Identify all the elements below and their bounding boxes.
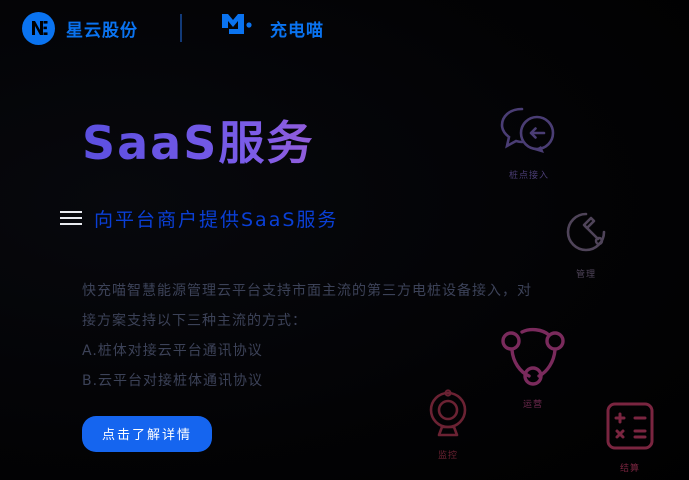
page-header: 星云股份 充电喵 <box>0 0 689 56</box>
brand-primary-name: 星云股份 <box>66 16 138 41</box>
brand-secondary[interactable]: 充电喵 <box>220 12 324 45</box>
hamburger-lines-icon <box>60 211 82 225</box>
feature-label: 结算 <box>620 461 640 474</box>
feature-label: 管理 <box>576 267 596 280</box>
feature-label: 桩点接入 <box>509 168 549 181</box>
learn-more-button[interactable]: 点击了解详情 <box>82 416 212 452</box>
body-line: 快充喵智慧能源管理云平台支持市面主流的第三方电桩设备接入，对 <box>82 276 577 306</box>
feature-operation[interactable]: 运营 <box>497 322 569 410</box>
hero-subline: 向平台商户提供SaaS服务 <box>60 205 602 232</box>
feature-label: 监控 <box>438 448 458 461</box>
feature-settlement[interactable]: 结算 <box>604 400 656 474</box>
feature-label: 运营 <box>523 397 543 410</box>
brand-secondary-name: 充电喵 <box>270 16 324 41</box>
feature-chat[interactable]: 桩点接入 <box>498 103 560 181</box>
hero-subtitle: 向平台商户提供SaaS服务 <box>94 205 338 232</box>
camera-monitor-icon <box>422 387 474 444</box>
feature-monitor[interactable]: 监控 <box>422 387 474 461</box>
ne-monogram-circle-icon <box>22 12 55 45</box>
brand-divider <box>180 14 182 42</box>
brand-primary[interactable]: 星云股份 <box>22 12 138 45</box>
cat-plug-mark-icon <box>220 12 262 45</box>
calculator-icon <box>604 400 656 457</box>
chat-bubbles-arrow-icon <box>498 103 560 164</box>
feature-manage[interactable]: 管理 <box>560 206 612 280</box>
network-nodes-icon <box>497 322 569 393</box>
wrench-gear-icon <box>560 206 612 263</box>
